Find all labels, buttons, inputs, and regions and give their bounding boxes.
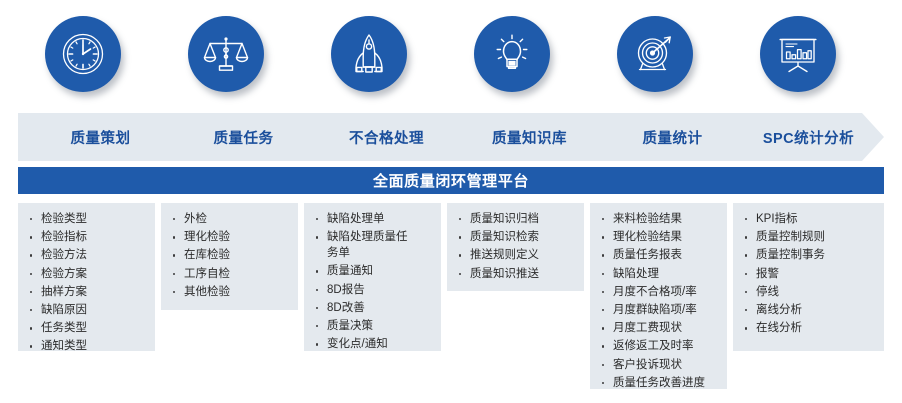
list-item[interactable]: 外检 — [167, 211, 292, 227]
process-step-6[interactable]: SPC统计分析 — [733, 113, 884, 161]
list-item[interactable]: 理化检验结果 — [596, 229, 721, 245]
lightbulb-icon — [474, 16, 550, 92]
feature-list: 缺陷处理单 缺陷处理质量任务单 质量通知 8D报告 8D改善 质量决策 变化点/… — [310, 211, 435, 352]
presentation-chart-icon — [760, 16, 836, 92]
list-item[interactable]: 抽样方案 — [24, 284, 149, 300]
process-step-label: SPC统计分析 — [763, 127, 854, 148]
process-step-1[interactable]: 质量策划 — [18, 113, 183, 161]
feature-list: 检验类型 检验指标 检验方法 检验方案 抽样方案 缺陷原因 任务类型 通知类型 — [24, 211, 149, 354]
list-item[interactable]: 8D改善 — [310, 300, 435, 316]
list-item[interactable]: 缺陷处理质量任务单 — [310, 229, 435, 261]
feature-panel-row: 检验类型 检验指标 检验方法 检验方案 抽样方案 缺陷原因 任务类型 通知类型 … — [0, 203, 902, 403]
list-item[interactable]: 月度群缺陷项/率 — [596, 302, 721, 318]
step-icon-2[interactable] — [188, 16, 268, 98]
feature-panel-spc-analysis: KPI指标 质量控制规则 质量控制事务 报警 停线 离线分析 在线分析 — [733, 203, 884, 351]
process-step-3[interactable]: 不合格处理 — [304, 113, 469, 161]
list-item[interactable]: 变化点/通知 — [310, 336, 435, 352]
list-item[interactable]: 质量通知 — [310, 263, 435, 279]
process-step-4[interactable]: 质量知识库 — [447, 113, 612, 161]
step-icon-4[interactable] — [474, 16, 554, 98]
feature-list: 外检 理化检验 在库检验 工序自检 其他检验 — [167, 211, 292, 300]
process-step-label: 质量任务 — [214, 127, 274, 148]
icon-row — [0, 0, 902, 112]
list-item[interactable]: 离线分析 — [739, 302, 878, 318]
list-item[interactable]: 理化检验 — [167, 229, 292, 245]
feature-panel-quality-statistics: 来料检验结果 理化检验结果 质量任务报表 缺陷处理 月度不合格项/率 月度群缺陷… — [590, 203, 727, 389]
list-item[interactable]: 任务类型 — [24, 320, 149, 336]
list-item[interactable]: 返修返工及时率 — [596, 338, 721, 354]
platform-banner: 全面质量闭环管理平台 — [18, 167, 884, 194]
process-step-5[interactable]: 质量统计 — [590, 113, 755, 161]
list-item[interactable]: 来料检验结果 — [596, 211, 721, 227]
list-item[interactable]: 缺陷处理单 — [310, 211, 435, 227]
list-item[interactable]: 质量控制事务 — [739, 247, 878, 263]
list-item[interactable]: 检验指标 — [24, 229, 149, 245]
list-item[interactable]: 停线 — [739, 284, 878, 300]
list-item[interactable]: 客户投诉现状 — [596, 357, 721, 373]
list-item[interactable]: 检验类型 — [24, 211, 149, 227]
list-item[interactable]: 检验方法 — [24, 247, 149, 263]
list-item[interactable]: 在线分析 — [739, 320, 878, 336]
step-icon-6[interactable] — [760, 16, 840, 98]
feature-panel-nonconformance: 缺陷处理单 缺陷处理质量任务单 质量通知 8D报告 8D改善 质量决策 变化点/… — [304, 203, 441, 351]
list-item[interactable]: 质量知识检索 — [453, 229, 578, 245]
list-item[interactable]: 缺陷处理 — [596, 266, 721, 282]
list-item[interactable]: 推送规则定义 — [453, 247, 578, 263]
list-item[interactable]: 其他检验 — [167, 284, 292, 300]
feature-panel-quality-planning: 检验类型 检验指标 检验方法 检验方案 抽样方案 缺陷原因 任务类型 通知类型 — [18, 203, 155, 351]
infographic-root: 质量策划 质量任务 不合格处理 质量知识库 质量统计 SPC统计分析 全面质量闭… — [0, 0, 902, 403]
target-arrow-icon — [617, 16, 693, 92]
list-item[interactable]: 报警 — [739, 266, 878, 282]
platform-banner-title: 全面质量闭环管理平台 — [373, 170, 529, 191]
list-item[interactable]: 月度不合格项/率 — [596, 284, 721, 300]
feature-list: 质量知识归档 质量知识检索 推送规则定义 质量知识推送 — [453, 211, 578, 282]
list-item[interactable]: 缺陷原因 — [24, 302, 149, 318]
feature-list: 来料检验结果 理化检验结果 质量任务报表 缺陷处理 月度不合格项/率 月度群缺陷… — [596, 211, 721, 391]
list-item[interactable]: 质量任务改善进度 — [596, 375, 721, 391]
list-item[interactable]: 质量知识归档 — [453, 211, 578, 227]
process-step-2[interactable]: 质量任务 — [161, 113, 326, 161]
process-step-row: 质量策划 质量任务 不合格处理 质量知识库 质量统计 SPC统计分析 — [18, 113, 884, 161]
list-item[interactable]: 质量决策 — [310, 318, 435, 334]
clock-icon — [45, 16, 121, 92]
balance-scales-icon — [188, 16, 264, 92]
feature-panel-quality-task: 外检 理化检验 在库检验 工序自检 其他检验 — [161, 203, 298, 310]
process-step-label: 不合格处理 — [349, 127, 424, 148]
list-item[interactable]: 质量任务报表 — [596, 247, 721, 263]
feature-list: KPI指标 质量控制规则 质量控制事务 报警 停线 离线分析 在线分析 — [739, 211, 878, 336]
list-item[interactable]: 8D报告 — [310, 282, 435, 298]
step-icon-1[interactable] — [45, 16, 125, 98]
list-item[interactable]: 质量知识推送 — [453, 266, 578, 282]
step-icon-5[interactable] — [617, 16, 697, 98]
process-step-label: 质量策划 — [71, 127, 131, 148]
step-icon-3[interactable] — [331, 16, 411, 98]
list-item[interactable]: KPI指标 — [739, 211, 878, 227]
list-item[interactable]: 在库检验 — [167, 247, 292, 263]
list-item[interactable]: 通知类型 — [24, 338, 149, 354]
feature-panel-knowledge-base: 质量知识归档 质量知识检索 推送规则定义 质量知识推送 — [447, 203, 584, 291]
process-step-label: 质量统计 — [643, 127, 703, 148]
rocket-icon — [331, 16, 407, 92]
list-item[interactable]: 工序自检 — [167, 266, 292, 282]
list-item[interactable]: 月度工费现状 — [596, 320, 721, 336]
list-item[interactable]: 检验方案 — [24, 266, 149, 282]
list-item[interactable]: 质量控制规则 — [739, 229, 878, 245]
process-step-label: 质量知识库 — [492, 127, 567, 148]
